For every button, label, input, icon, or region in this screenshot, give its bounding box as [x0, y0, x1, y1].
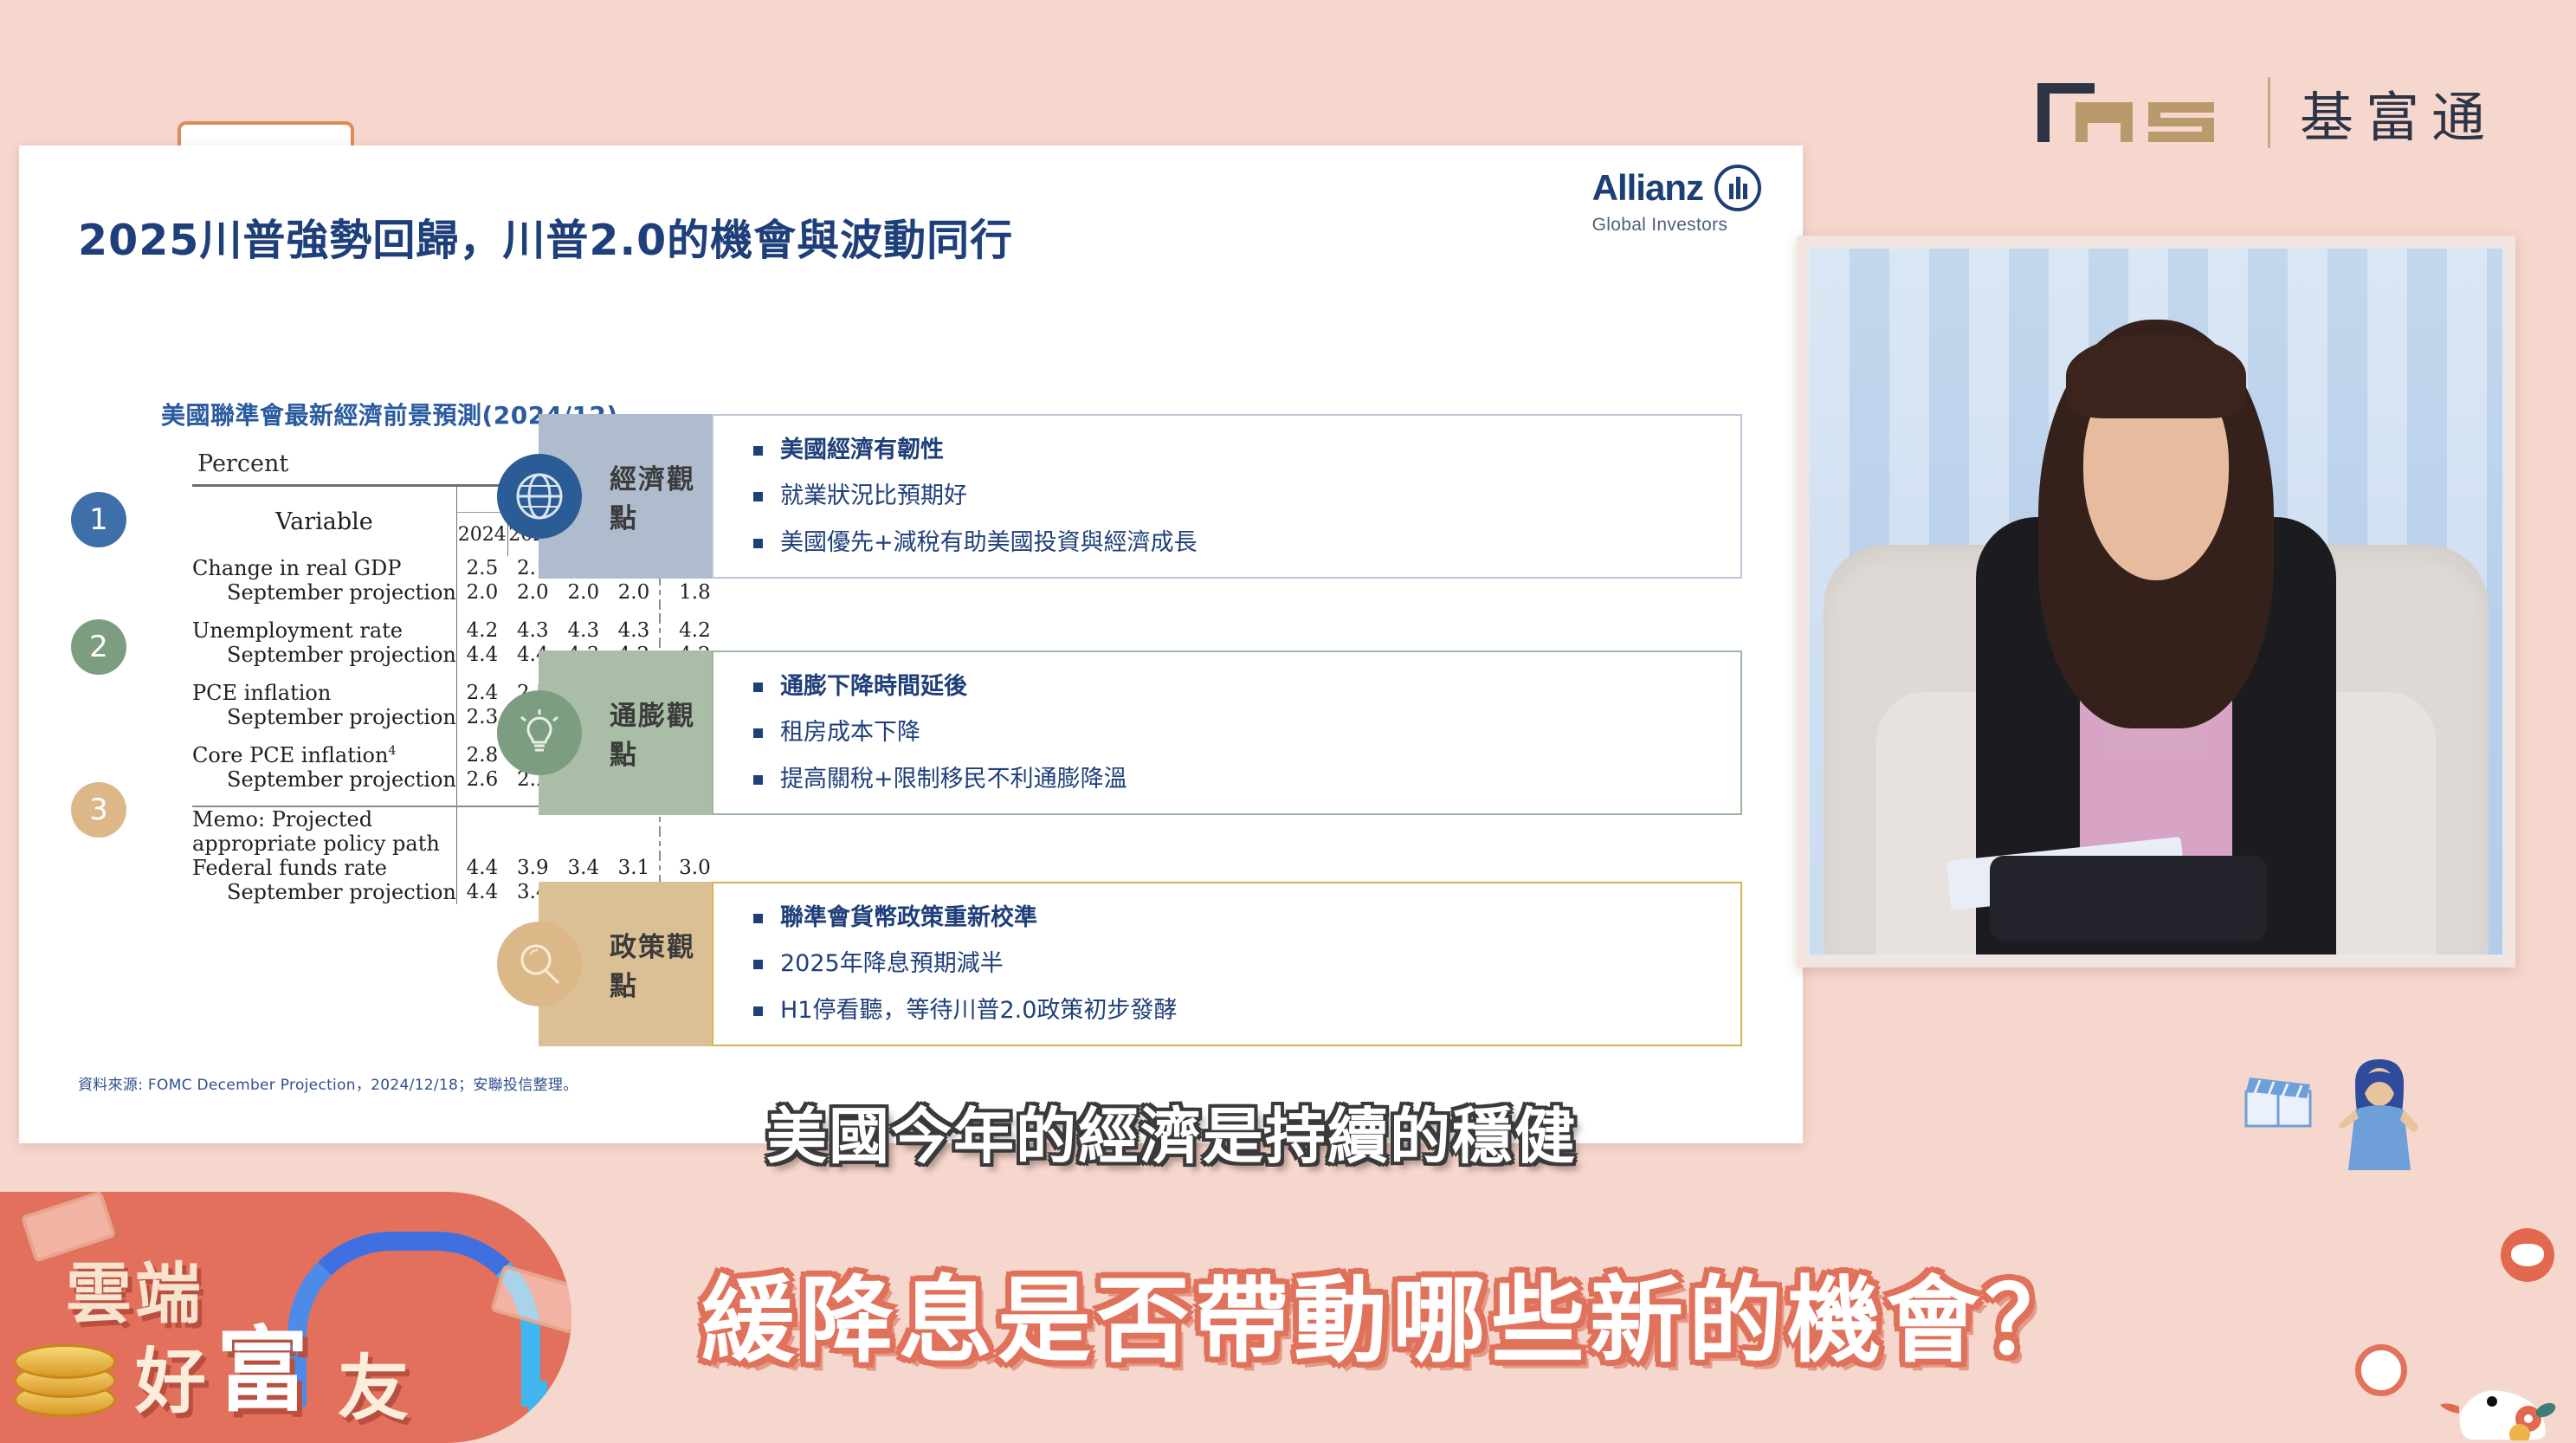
show-logo-big: 富: [216, 1296, 308, 1429]
table-cell: 3.0: [660, 856, 729, 880]
table-cell: 3.9: [507, 856, 558, 880]
table-cell: [609, 832, 660, 856]
table-cell: 4.4: [456, 643, 507, 667]
presenter-fringe: [2066, 333, 2246, 418]
bullet-item: 通膨下降時間延後: [753, 673, 1718, 700]
bullet-item: 美國經濟有韌性: [753, 437, 1718, 463]
allianz-logo: Allianz Global Investors: [1592, 165, 1761, 236]
panel-label-economy: 經濟觀點: [610, 457, 712, 535]
row-label: September projection: [192, 580, 456, 605]
panel-label-inflation: 通膨觀點: [610, 694, 712, 772]
bullet-square-icon: [753, 960, 763, 969]
table-cell: 2.0: [558, 580, 610, 605]
panel-band-economy: 經濟觀點: [539, 414, 712, 579]
brand-name: 基富通: [2300, 74, 2497, 152]
row-label: Federal funds rate: [192, 856, 456, 880]
table-cell: 4.4: [456, 880, 507, 904]
table-row: September projection2.02.02.02.01.8: [192, 580, 729, 605]
snake-illustration: [2424, 1369, 2576, 1440]
table-cell: 2.5: [456, 556, 507, 580]
show-logo-line3: 友: [338, 1330, 412, 1433]
table-cell: 2.6: [456, 767, 507, 792]
bullet-item: 就業狀況比預期好: [753, 482, 1718, 509]
table-cell: [456, 806, 507, 832]
clapperboard-icon: [2243, 1072, 2314, 1129]
table-cell: 2.0: [507, 580, 558, 605]
row-label: appropriate policy path: [192, 832, 456, 856]
panel-body-policy: 聯準會貨幣政策重新校準 2025年降息預期減半 H1停看聽，等待川普2.0政策初…: [712, 882, 1742, 1046]
bullet-square-icon: [753, 683, 763, 692]
shouting-emoji-icon: [2501, 1228, 2554, 1282]
row-spacer: [192, 605, 729, 618]
brand-logo: 基富通: [2030, 74, 2497, 152]
bullet-square-icon: [753, 492, 763, 501]
panel-body-economy: 美國經濟有韌性 就業狀況比預期好 美國優先+減稅有助美國投資與經濟成長: [712, 414, 1742, 579]
table-cell: 3.4: [558, 856, 610, 880]
table-cell: [507, 832, 558, 856]
globe-icon: [497, 454, 582, 539]
table-cell: 2.0: [609, 580, 660, 605]
row-label: September projection: [192, 767, 456, 792]
table-cell: 4.3: [558, 618, 610, 643]
bullet-item: 租房成本下降: [753, 719, 1718, 746]
row-label: Change in real GDP: [192, 556, 456, 580]
coin-stack-icon: [14, 1341, 111, 1412]
bullet-square-icon: [753, 446, 763, 456]
lightbulb-icon: [497, 690, 582, 775]
table-cell: 4.4: [456, 856, 507, 880]
slide-title: 2025川普強勢回歸，川普2.0的機會與波動同行: [78, 206, 1013, 268]
bullet-item: 聯準會貨幣政策重新校準: [753, 904, 1718, 931]
row-label: Unemployment rate: [192, 618, 456, 643]
bullet-square-icon: [753, 728, 763, 738]
table-cell: 2.4: [456, 681, 507, 705]
bullet-item: 美國優先+減稅有助美國投資與經濟成長: [753, 529, 1718, 556]
show-logo: 雲端 好 富 友: [0, 1192, 571, 1443]
presenter-video[interactable]: [1797, 236, 2515, 967]
allianz-wordmark: Allianz: [1592, 170, 1703, 206]
presentation-slide: 2025川普強勢回歸，川普2.0的機會與波動同行 Allianz Global …: [19, 146, 1803, 1143]
row-label: September projection: [192, 880, 456, 904]
headline-caption: 緩降息是否帶動哪些新的機會？: [701, 1246, 2083, 1381]
show-logo-line2: 好: [135, 1323, 210, 1427]
bullet-square-icon: [753, 914, 763, 923]
panel-inflation[interactable]: 通膨觀點 通膨下降時間延後 租房成本下降 提高關稅+限制移民不利通膨降溫: [539, 650, 1742, 815]
table-cell: 4.3: [507, 618, 558, 643]
bullet-item: 提高關稅+限制移民不利通膨降溫: [753, 766, 1718, 793]
table-cell: [558, 832, 610, 856]
presenter-lap: [1990, 856, 2267, 941]
row-label: PCE inflation: [192, 681, 456, 705]
bullet-square-icon: [753, 539, 763, 548]
table-row: Federal funds rate4.43.93.43.13.0: [192, 856, 729, 880]
row-label: Memo: Projected: [192, 806, 456, 832]
cloud-icon: [287, 1232, 540, 1407]
brand-divider: [2268, 77, 2270, 148]
row-label: Core PCE inflation4: [192, 743, 456, 767]
woman-illustration: [2329, 1052, 2429, 1182]
allianz-tagline: Global Investors: [1592, 215, 1761, 236]
table-row: appropriate policy path: [192, 832, 729, 856]
col-variable: Variable: [192, 486, 456, 557]
panel-policy[interactable]: 政策觀點 聯準會貨幣政策重新校準 2025年降息預期減半 H1停看聽，等待川普2…: [539, 882, 1742, 1046]
table-cell: 4.2: [456, 618, 507, 643]
frs-mark-icon: [2030, 80, 2238, 146]
bullet-square-icon: [753, 775, 763, 785]
col-2024: 2024: [456, 513, 507, 557]
panel-economy[interactable]: 經濟觀點 美國經濟有韌性 就業狀況比預期好 美國優先+減稅有助美國投資與經濟成長: [539, 414, 1742, 579]
table-cell: 1.8: [660, 580, 729, 605]
table-cell: [660, 832, 729, 856]
table-cell: 2.0: [456, 580, 507, 605]
panel-label-policy: 政策觀點: [610, 925, 712, 1003]
subtitle-caption: 美國今年的經濟是持續的穩健: [766, 1088, 1577, 1175]
row-label: September projection: [192, 705, 456, 729]
show-logo-line1: 雲端: [66, 1240, 204, 1336]
row-label: September projection: [192, 643, 456, 667]
table-row: Unemployment rate4.24.34.34.34.2: [192, 618, 729, 643]
bullet-item: H1停看聽，等待川普2.0政策初步發酵: [753, 997, 1718, 1024]
allianz-eagle-icon: [1714, 165, 1761, 211]
table-cell: [456, 832, 507, 856]
panel-band-inflation: 通膨觀點: [539, 650, 712, 815]
panel-body-inflation: 通膨下降時間延後 租房成本下降 提高關稅+限制移民不利通膨降溫: [712, 650, 1742, 815]
source-note: 資料來源: FOMC December Projection，2024/12/1…: [78, 1072, 578, 1094]
panel-band-policy: 政策觀點: [539, 882, 712, 1046]
table-cell: 4.3: [609, 618, 660, 643]
magnifier-icon: [497, 922, 582, 1006]
table-cell: 3.1: [609, 856, 660, 880]
ring-decoration: [2355, 1344, 2407, 1396]
table-cell: 4.2: [660, 618, 729, 643]
bullet-item: 2025年降息預期減半: [753, 950, 1718, 977]
video-frame: [1807, 246, 2505, 957]
bullet-square-icon: [753, 1006, 763, 1016]
